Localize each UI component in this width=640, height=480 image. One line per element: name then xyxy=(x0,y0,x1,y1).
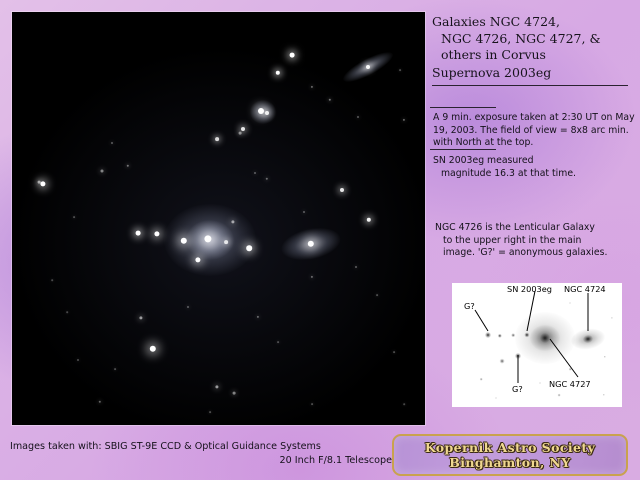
inset-label-ngc-4724: NGC 4724 xyxy=(564,284,606,294)
title-line-4: Supernova 2003eg xyxy=(432,64,636,82)
title-line-3: others in Corvus xyxy=(432,47,636,64)
magnitude-line-2: magnitude 16.3 at that time. xyxy=(433,168,639,181)
kopernik-logo-badge: Kopernik Astro Society Binghamton, NY xyxy=(392,434,628,476)
inset-label-ngc-4727: NGC 4727 xyxy=(549,379,591,389)
inset-label-g-left: G? xyxy=(464,301,475,311)
inset-label-sn-2003eg: SN 2003eg xyxy=(507,284,552,294)
credits-line-2: 20 Inch F/8.1 Telescope xyxy=(10,454,410,468)
magnitude-text: SN 2003eg measured magnitude 16.3 at tha… xyxy=(433,155,639,180)
title-underline xyxy=(432,85,628,86)
credits-text: Images taken with: SBIG ST-9E CCD & Opti… xyxy=(10,440,410,468)
exposure-rule-top xyxy=(430,107,496,108)
title-line-2: NGC 4726, NGC 4727, & xyxy=(432,31,636,48)
inset-label-g-bottom: G? xyxy=(512,384,523,394)
slide-title: Galaxies NGC 4724, NGC 4726, NGC 4727, &… xyxy=(432,14,636,81)
main-astro-image xyxy=(12,12,425,425)
inset-astro-image: SN 2003eg NGC 4724 NGC 4727 G? G? xyxy=(452,283,622,407)
logo-line-2: Binghamton, NY xyxy=(449,455,570,470)
title-line-1: Galaxies NGC 4724, xyxy=(432,14,636,31)
slide-canvas: Galaxies NGC 4724, NGC 4726, NGC 4727, &… xyxy=(0,0,640,480)
exposure-text: A 9 min. exposure taken at 2:30 UT on Ma… xyxy=(433,112,639,150)
inset-leader-lines xyxy=(452,283,622,407)
lenticular-line-3: image. 'G?' = anonymous galaxies. xyxy=(435,247,635,260)
lenticular-note: NGC 4726 is the Lenticular Galaxy to the… xyxy=(435,222,635,260)
magnitude-line-1: SN 2003eg measured xyxy=(433,155,534,166)
logo-line-1: Kopernik Astro Society xyxy=(425,440,595,455)
exposure-rule-bottom xyxy=(430,149,496,150)
lenticular-line-2: to the upper right in the main xyxy=(435,235,635,248)
lenticular-line-1: NGC 4726 is the Lenticular Galaxy xyxy=(435,222,595,233)
credits-line-1: Images taken with: SBIG ST-9E CCD & Opti… xyxy=(10,441,321,452)
